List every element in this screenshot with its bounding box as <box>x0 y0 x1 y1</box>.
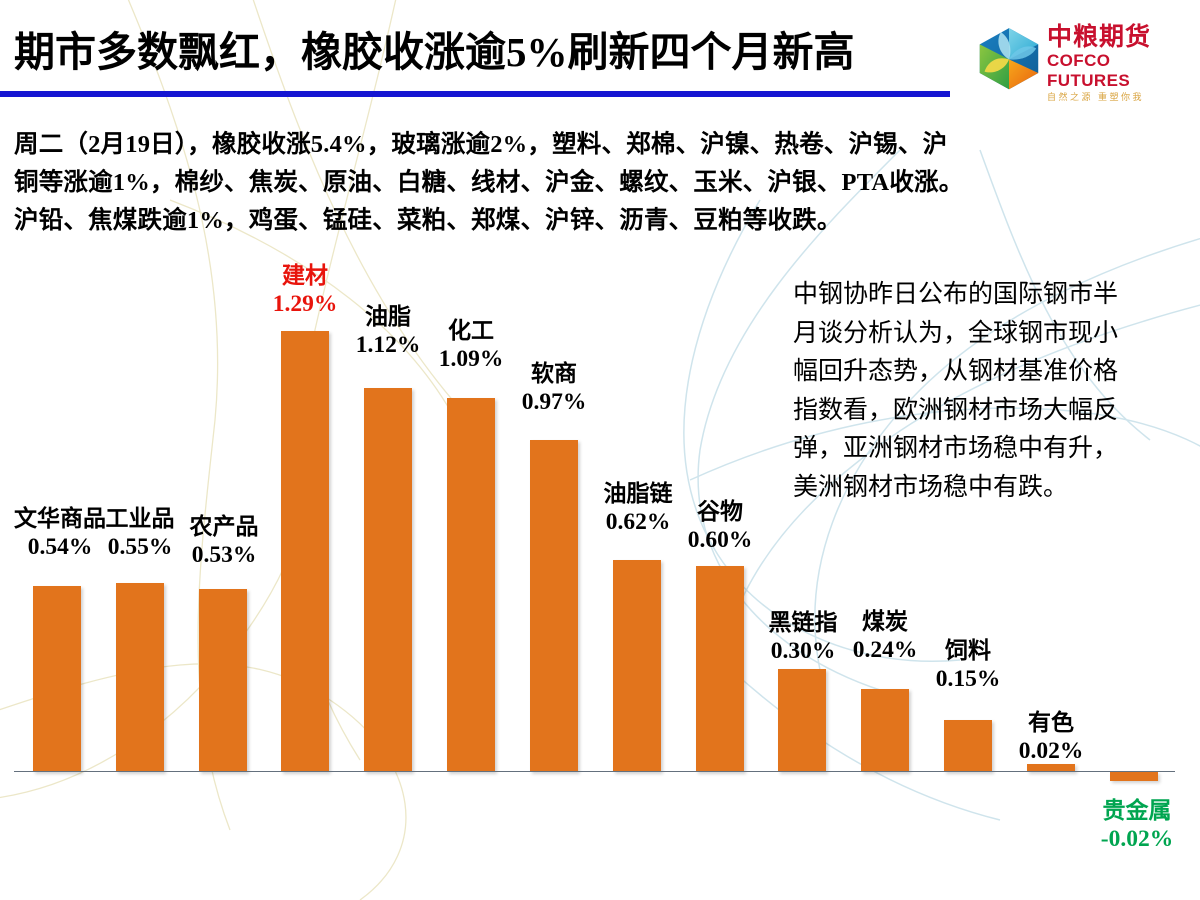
chart-bar-category: 农产品 <box>176 513 272 541</box>
chart-bar <box>530 440 578 772</box>
page-title: 期市多数飘红，橡胶收涨逾5%刷新四个月新高 <box>14 26 855 78</box>
chart-bar <box>116 583 164 772</box>
chart-bar <box>696 566 744 772</box>
chart-bar-label: 饲料0.15% <box>920 637 1016 694</box>
chart-bar <box>33 586 81 772</box>
chart-bar <box>944 720 992 772</box>
chart-bar-value: 0.97% <box>506 388 602 417</box>
cofco-futures-logo: 中粮期货 COFCO FUTURES 自然之源 重塑你我 <box>975 22 1190 96</box>
chart-bar-value: 1.29% <box>257 290 353 319</box>
chart-bar-value: 0.15% <box>920 665 1016 694</box>
chart-bar-label: 农产品0.53% <box>176 513 272 570</box>
lede-line-2: 铜等涨逾1%，棉纱、焦炭、原油、白糖、线材、沪金、螺纹、玉米、沪银、PTA收涨。 <box>14 164 1190 202</box>
chart-bar <box>447 398 495 772</box>
commentary-line-6: 美洲钢材市场稳中有跌。 <box>793 469 1175 508</box>
chart-bar-label: 软商0.97% <box>506 360 602 417</box>
logo-wordmark: 中粮期货 COFCO FUTURES 自然之源 重塑你我 <box>1047 24 1192 103</box>
chart-bar-category: 饲料 <box>920 637 1016 665</box>
chart-bar-value: 0.60% <box>672 526 768 555</box>
chart-baseline-axis <box>14 771 1175 772</box>
logo-english-name: COFCO FUTURES <box>1047 51 1192 91</box>
chart-bar-category: 有色 <box>1003 709 1099 737</box>
commentary-line-2: 月谈分析认为，全球钢市现小 <box>793 315 1175 354</box>
slide-root: 期市多数飘红，橡胶收涨逾5%刷新四个月新高 <box>0 0 1200 900</box>
chart-bar-label: 化工1.09% <box>423 317 519 374</box>
chart-bar-category: 贵金属 <box>1085 797 1189 825</box>
chart-bar-value: 1.09% <box>423 345 519 374</box>
chart-bar-value: -0.02% <box>1085 825 1189 854</box>
chart-bar-value: 1.12% <box>340 331 436 360</box>
chart-bar <box>199 589 247 772</box>
chart-bar-category: 油脂 <box>340 303 436 331</box>
chart-bar <box>861 689 909 772</box>
commentary-text: 中钢协昨日公布的国际钢市半 月谈分析认为，全球钢市现小 幅回升态势，从钢材基准价… <box>793 276 1175 507</box>
chart-bar <box>364 388 412 772</box>
lede-line-3: 沪铅、焦煤跌逾1%，鸡蛋、锰硅、菜粕、郑煤、沪锌、沥青、豆粕等收跌。 <box>14 202 1190 240</box>
chart-bar-label: 油脂1.12% <box>340 303 436 360</box>
chart-bar-value: 0.24% <box>837 636 933 665</box>
chart-bar-value: 0.02% <box>1003 737 1099 766</box>
chart-bar-value: 0.53% <box>176 541 272 570</box>
commentary-line-3: 幅回升态势，从钢材基准价格 <box>793 353 1175 392</box>
commentary-line-1: 中钢协昨日公布的国际钢市半 <box>793 276 1175 315</box>
logo-chinese-name: 中粮期货 <box>1047 24 1192 51</box>
chart-bar-category: 建材 <box>257 262 353 290</box>
chart-bar <box>778 669 826 772</box>
chart-bar-label: 煤炭0.24% <box>837 608 933 665</box>
cofco-cube-icon <box>975 24 1043 92</box>
chart-bar <box>1110 772 1158 781</box>
commentary-line-4: 指数看，欧洲钢材市场大幅反 <box>793 392 1175 431</box>
chart-bar <box>613 560 661 772</box>
chart-bar-label: 谷物0.60% <box>672 498 768 555</box>
chart-bar-category: 化工 <box>423 317 519 345</box>
chart-bar-category: 软商 <box>506 360 602 388</box>
lede-line-1: 周二（2月19日），橡胶收涨5.4%，玻璃涨逾2%，塑料、郑棉、沪镍、热卷、沪锡… <box>14 126 1190 164</box>
chart-bar-label: 贵金属-0.02% <box>1085 797 1189 854</box>
chart-bar-category: 煤炭 <box>837 608 933 636</box>
chart-bar <box>281 331 329 772</box>
title-underline <box>0 91 950 97</box>
commentary-line-5: 弹，亚洲钢材市场稳中有升， <box>793 430 1175 469</box>
chart-bar-label: 建材1.29% <box>257 262 353 319</box>
logo-slogan: 自然之源 重塑你我 <box>1047 91 1192 103</box>
chart-bar-label: 有色0.02% <box>1003 709 1099 766</box>
chart-bar-category: 谷物 <box>672 498 768 526</box>
lede-paragraph: 周二（2月19日），橡胶收涨5.4%，玻璃涨逾2%，塑料、郑棉、沪镍、热卷、沪锡… <box>14 126 1190 240</box>
